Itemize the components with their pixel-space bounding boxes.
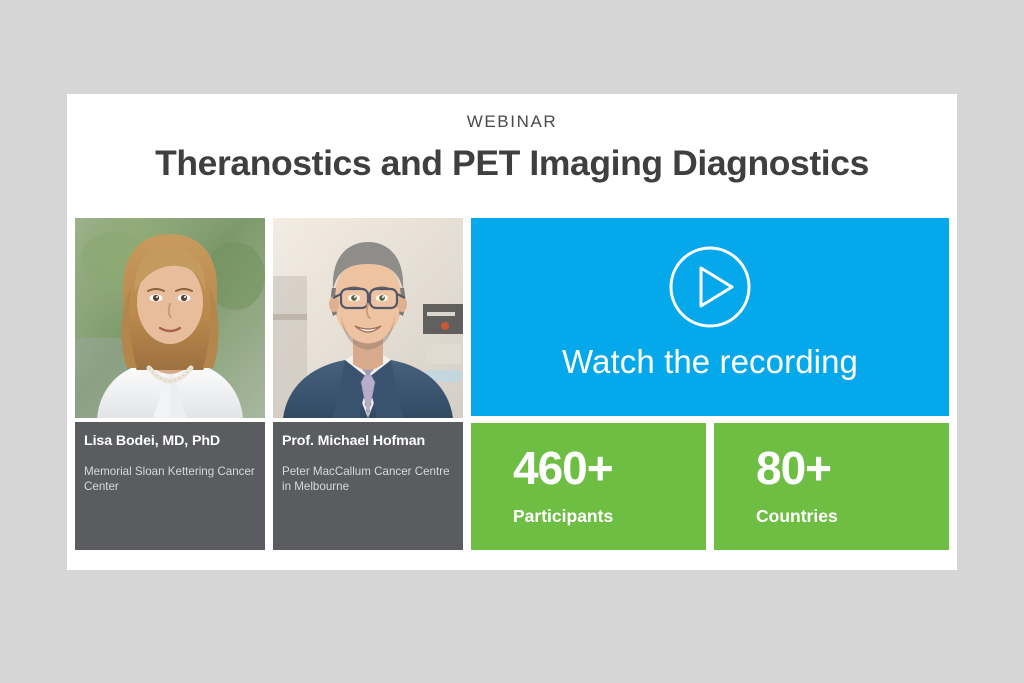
stat-label: Countries — [756, 491, 949, 526]
webinar-promo-card: WEBINAR Theranostics and PET Imaging Dia… — [67, 94, 957, 570]
watch-recording-cta[interactable]: Watch the recording — [471, 218, 949, 416]
speaker-photo-michael-hofman — [273, 218, 463, 418]
speaker-card-michael-hofman: Prof. Michael Hofman Peter MacCallum Can… — [273, 218, 463, 550]
speaker-photo-lisa-bodei — [75, 218, 265, 418]
speaker-name: Prof. Michael Hofman — [282, 433, 454, 450]
speaker-affiliation: Peter MacCallum Cancer Centre in Melbour… — [282, 450, 454, 495]
page-title: Theranostics and PET Imaging Diagnostics — [67, 130, 957, 182]
cta-label: Watch the recording — [471, 344, 949, 380]
promo-header: WEBINAR Theranostics and PET Imaging Dia… — [67, 94, 957, 218]
speaker-card-lisa-bodei: Lisa Bodei, MD, PhD Memorial Sloan Kette… — [75, 218, 265, 550]
speaker-affiliation: Memorial Sloan Kettering Cancer Center — [84, 450, 256, 495]
stat-value: 80+ — [756, 445, 949, 491]
stat-card-countries: 80+ Countries — [714, 423, 949, 550]
stat-value: 460+ — [513, 445, 706, 491]
stat-label: Participants — [513, 491, 706, 526]
speaker-info-michael-hofman: Prof. Michael Hofman Peter MacCallum Can… — [273, 422, 463, 550]
speaker-name: Lisa Bodei, MD, PhD — [84, 433, 256, 450]
play-circle-icon[interactable] — [668, 245, 752, 329]
stat-card-participants: 460+ Participants — [471, 423, 706, 550]
promo-body: Lisa Bodei, MD, PhD Memorial Sloan Kette… — [67, 218, 957, 570]
speaker-info-lisa-bodei: Lisa Bodei, MD, PhD Memorial Sloan Kette… — [75, 422, 265, 550]
eyebrow-label: WEBINAR — [67, 94, 957, 130]
